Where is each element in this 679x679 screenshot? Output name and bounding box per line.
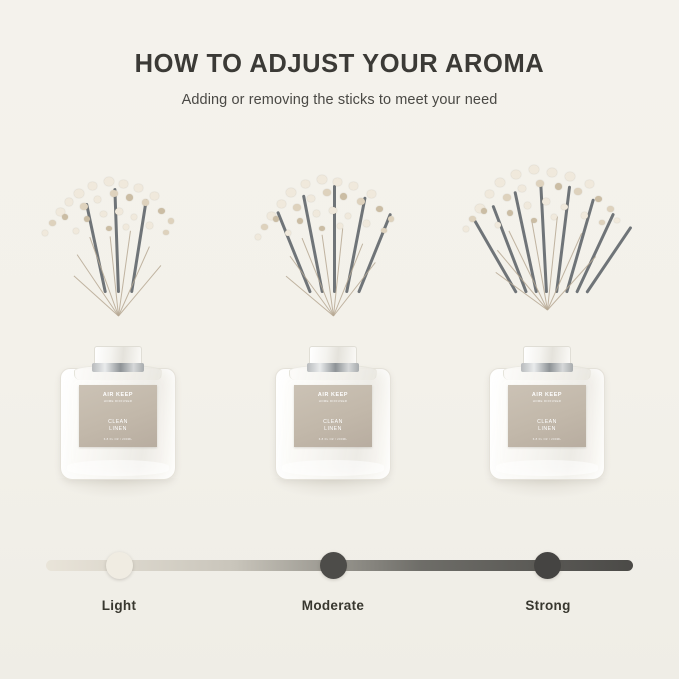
label-scent: CLEAN LINEN [294, 419, 372, 433]
slider-label-moderate: Moderate [263, 598, 403, 613]
slider-label-strong: Strong [478, 598, 618, 613]
diffuser-bottle: AIR KEEP HOME DIFFUSER CLEAN LINEN 6.8 F… [60, 368, 176, 480]
label-volume: 6.8 FL OZ / 200ML [294, 437, 372, 441]
diffuser-bottle: AIR KEEP HOME DIFFUSER CLEAN LINEN 6.8 F… [489, 368, 605, 480]
bottle-collar [92, 363, 144, 372]
bottle-label: AIR KEEP HOME DIFFUSER CLEAN LINEN 6.8 F… [508, 385, 586, 447]
infographic-page: HOW TO ADJUST YOUR AROMA Adding or remov… [0, 0, 679, 679]
bottle-label: AIR KEEP HOME DIFFUSER CLEAN LINEN 6.8 F… [294, 385, 372, 447]
dried-flowers [233, 156, 433, 316]
diffuser-bottle: AIR KEEP HOME DIFFUSER CLEAN LINEN 6.8 F… [275, 368, 391, 480]
label-brand: AIR KEEP [508, 392, 586, 398]
slider-knob-strong[interactable] [534, 552, 561, 579]
bottle-collar [521, 363, 573, 372]
bottle-collar [307, 363, 359, 372]
label-volume: 6.8 FL OZ / 200ML [508, 437, 586, 441]
slider-label-light: Light [49, 598, 189, 613]
bottle-label: AIR KEEP HOME DIFFUSER CLEAN LINEN 6.8 F… [79, 385, 157, 447]
label-brand: AIR KEEP [294, 392, 372, 398]
label-brand-sub: HOME DIFFUSER [294, 399, 372, 403]
slider-knob-light[interactable] [106, 552, 133, 579]
page-title: HOW TO ADJUST YOUR AROMA [0, 50, 679, 79]
diffuser-strong: AIR KEEP HOME DIFFUSER CLEAN LINEN 6.8 F… [447, 118, 647, 498]
label-brand-sub: HOME DIFFUSER [79, 399, 157, 403]
bottle-reflection [485, 478, 609, 498]
label-brand-sub: HOME DIFFUSER [508, 399, 586, 403]
diffuser-moderate: AIR KEEP HOME DIFFUSER CLEAN LINEN 6.8 F… [233, 118, 433, 498]
diffuser-light: AIR KEEP HOME DIFFUSER CLEAN LINEN 6.8 F… [18, 118, 218, 498]
label-brand: AIR KEEP [79, 392, 157, 398]
label-volume: 6.8 FL OZ / 200ML [79, 437, 157, 441]
slider-knob-moderate[interactable] [320, 552, 347, 579]
label-scent: CLEAN LINEN [508, 419, 586, 433]
dried-flowers [18, 156, 218, 316]
diffuser-row: AIR KEEP HOME DIFFUSER CLEAN LINEN 6.8 F… [0, 118, 679, 498]
bottle-reflection [56, 478, 180, 498]
intensity-slider[interactable]: Light Moderate Strong [0, 540, 679, 640]
page-subtitle: Adding or removing the sticks to meet yo… [0, 92, 679, 108]
bottle-reflection [271, 478, 395, 498]
dried-flowers [447, 150, 647, 310]
label-scent: CLEAN LINEN [79, 419, 157, 433]
